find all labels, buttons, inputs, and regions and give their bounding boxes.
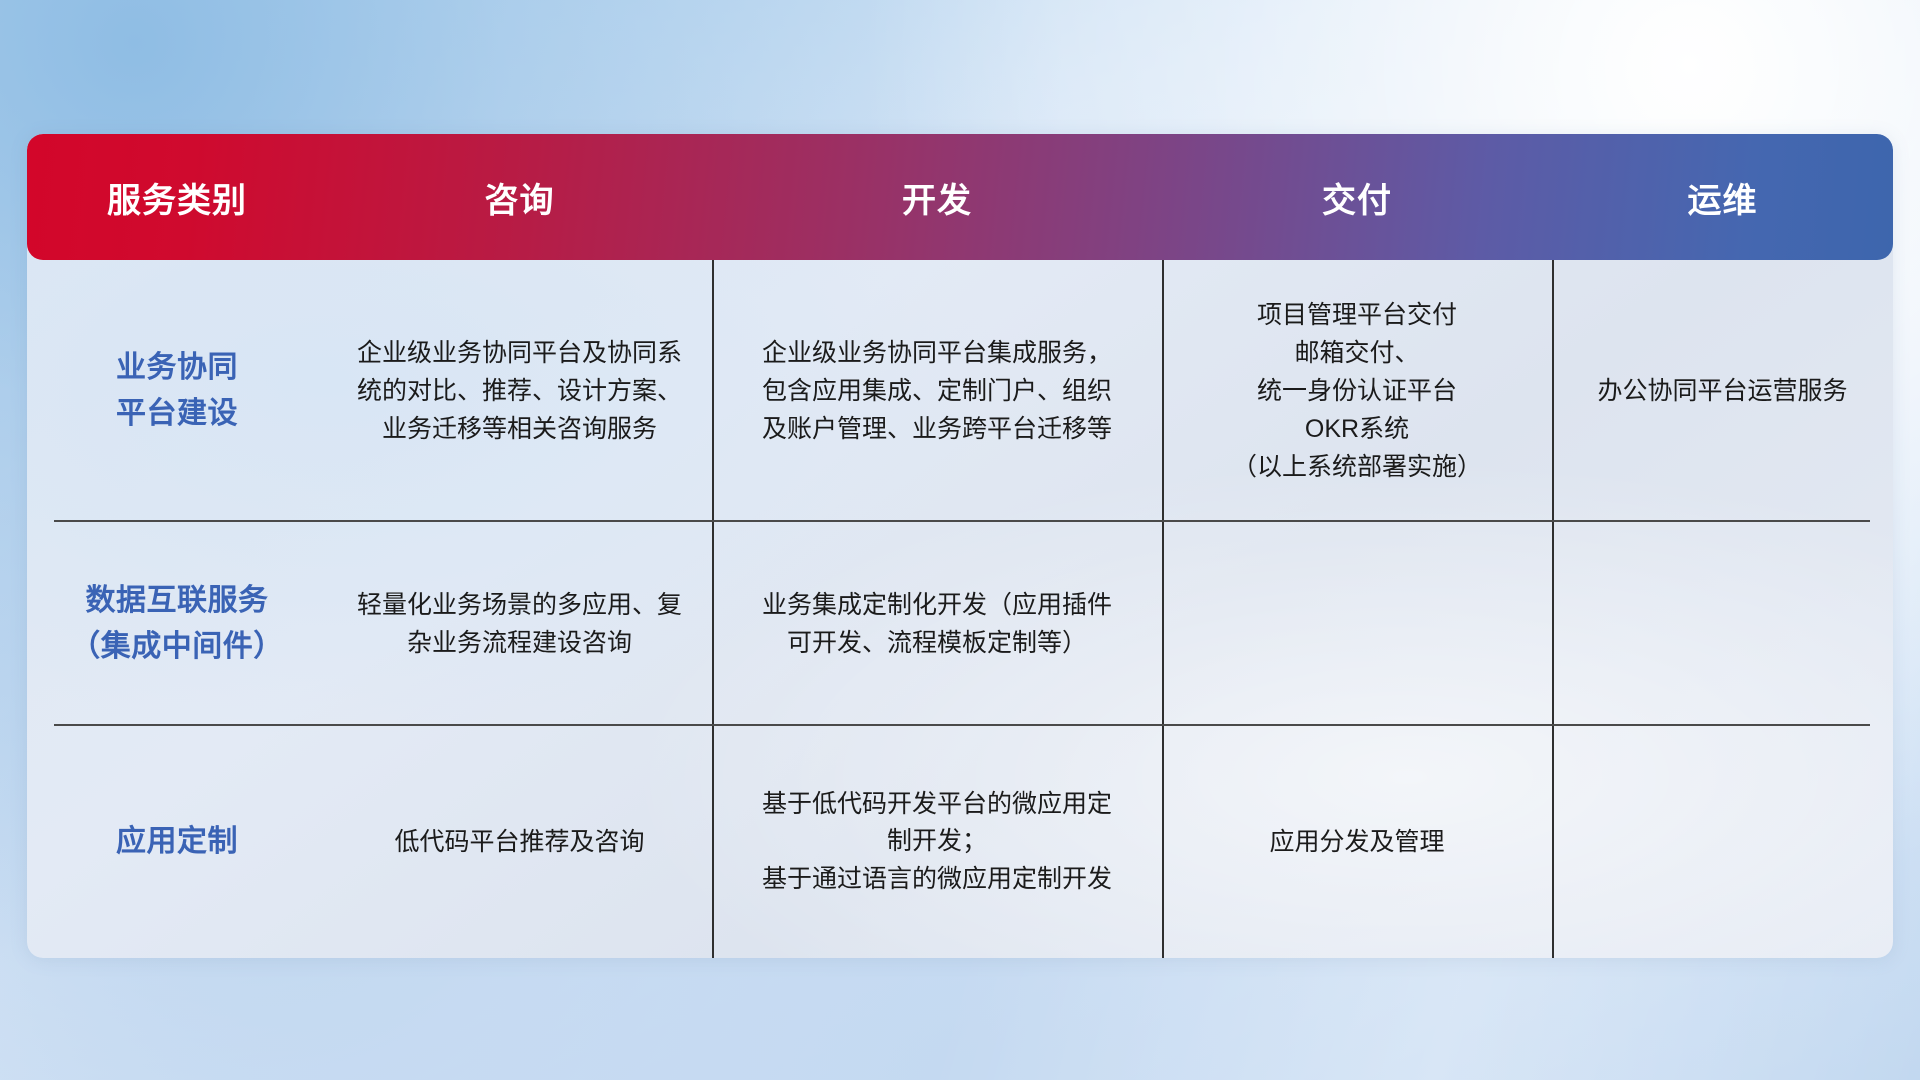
cell-consulting-row3: 低代码平台推荐及咨询	[327, 726, 712, 958]
table-row: 应用定制 低代码平台推荐及咨询 基于低代码开发平台的微应用定 制开发； 基于通过…	[27, 726, 1893, 958]
cell-text: 应用分发及管理	[1269, 823, 1444, 861]
header-cell-service-category: 服务类别	[27, 173, 327, 222]
table-row: 数据互联服务 （集成中间件） 轻量化业务场景的多应用、复 杂业务流程建设咨询 业…	[27, 522, 1893, 726]
cell-category-row1: 业务协同 平台建设	[27, 260, 327, 522]
cell-text: 企业级业务协同平台及协同系 统的对比、推荐、设计方案、 业务迁移等相关咨询服务	[357, 334, 682, 448]
cell-consulting-row2: 轻量化业务场景的多应用、复 杂业务流程建设咨询	[327, 522, 712, 726]
header-cell-development: 开发	[712, 173, 1162, 222]
category-label: 数据互联服务 （集成中间件）	[70, 578, 284, 671]
row-divider	[54, 520, 1870, 522]
table-row: 业务协同 平台建设 企业级业务协同平台及协同系 统的对比、推荐、设计方案、 业务…	[27, 260, 1893, 522]
cell-category-row3: 应用定制	[27, 726, 327, 958]
header-cell-delivery: 交付	[1162, 173, 1552, 222]
service-matrix-table: 服务类别 咨询 开发 交付 运维 业务协同 平台建设 企业级业务协同平台及协同系…	[27, 134, 1893, 958]
cell-delivery-row1: 项目管理平台交付 邮箱交付、 统一身份认证平台 OKR系统 （以上系统部署实施）	[1162, 260, 1552, 522]
cell-development-row2: 业务集成定制化开发（应用插件 可开发、流程模板定制等）	[712, 522, 1162, 726]
row-divider	[54, 724, 1870, 726]
cell-text: 低代码平台推荐及咨询	[394, 823, 644, 861]
cell-operations-row3	[1552, 726, 1893, 958]
cell-text: 项目管理平台交付 邮箱交付、 统一身份认证平台 OKR系统 （以上系统部署实施）	[1232, 296, 1482, 486]
cell-text: 业务集成定制化开发（应用插件 可开发、流程模板定制等）	[762, 586, 1112, 662]
cell-text: 办公协同平台运营服务	[1597, 372, 1847, 410]
cell-development-row1: 企业级业务协同平台集成服务， 包含应用集成、定制门户、组织 及账户管理、业务跨平…	[712, 260, 1162, 522]
table-header-row: 服务类别 咨询 开发 交付 运维	[27, 134, 1893, 260]
cell-text: 基于低代码开发平台的微应用定 制开发； 基于通过语言的微应用定制开发	[762, 786, 1112, 899]
header-cell-operations: 运维	[1552, 173, 1893, 222]
cell-development-row3: 基于低代码开发平台的微应用定 制开发； 基于通过语言的微应用定制开发	[712, 726, 1162, 958]
cell-delivery-row2	[1162, 522, 1552, 726]
cell-category-row2: 数据互联服务 （集成中间件）	[27, 522, 327, 726]
cell-text: 轻量化业务场景的多应用、复 杂业务流程建设咨询	[357, 586, 682, 662]
cell-text: 企业级业务协同平台集成服务， 包含应用集成、定制门户、组织 及账户管理、业务跨平…	[762, 334, 1112, 448]
cell-delivery-row3: 应用分发及管理	[1162, 726, 1552, 958]
cell-operations-row1: 办公协同平台运营服务	[1552, 260, 1893, 522]
cell-consulting-row1: 企业级业务协同平台及协同系 统的对比、推荐、设计方案、 业务迁移等相关咨询服务	[327, 260, 712, 522]
table-body: 业务协同 平台建设 企业级业务协同平台及协同系 统的对比、推荐、设计方案、 业务…	[27, 260, 1893, 958]
category-label: 业务协同 平台建设	[116, 345, 238, 438]
cell-operations-row2	[1552, 522, 1893, 726]
header-cell-consulting: 咨询	[327, 173, 712, 222]
category-label: 应用定制	[116, 819, 238, 866]
